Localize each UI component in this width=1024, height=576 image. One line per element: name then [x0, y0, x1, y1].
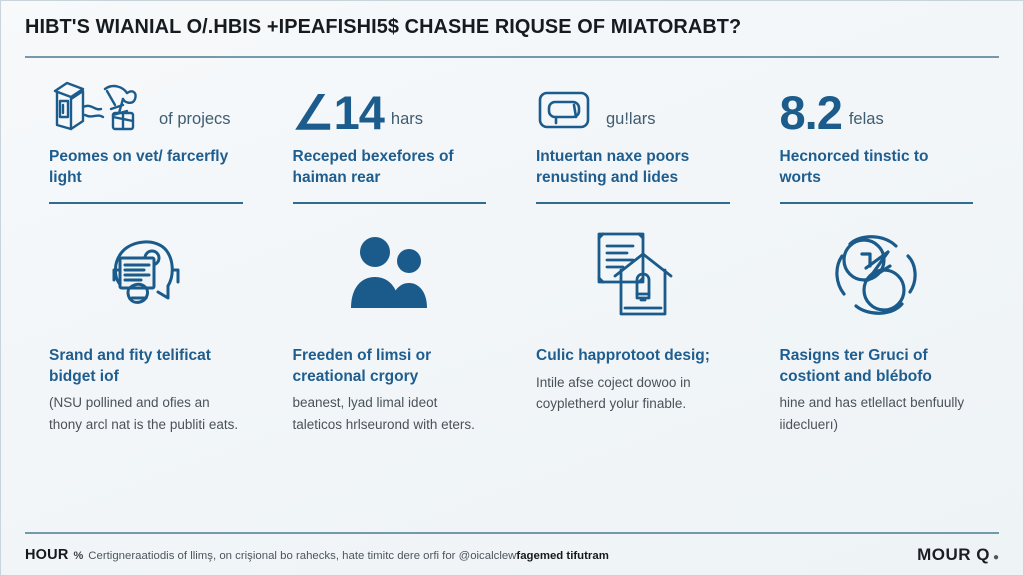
- rounded-screen-icon: [536, 87, 592, 136]
- stat-divider: [49, 202, 243, 204]
- stats-row: of projecs Peomes on vet/ farcerfly ligh…: [19, 58, 1005, 204]
- feature-card-title: Freeden of limsi or creational crgory: [293, 346, 487, 387]
- stat-item: 8.2 felas Hecnorced tinstic to worts: [756, 80, 1000, 204]
- stat-label: Peomes on vet/ farcerfly light: [49, 147, 243, 188]
- footer-divider: [25, 532, 999, 534]
- feature-card-title: Srand and fity telificat bidget iof: [49, 346, 243, 387]
- stat-item: ∠14 hars Receped bexefores of haiman rea…: [269, 80, 513, 204]
- footer-note: Certigneraatiodis of llimş, on crişional…: [88, 550, 609, 562]
- poster-footer: HOUR % Certigneraatiodis of llimş, on cr…: [19, 532, 1005, 575]
- feature-card-body: Intile afse coject dowoo in coypletherd …: [536, 372, 730, 415]
- stat-label: Intuertan naxe poors renusting and lides: [536, 147, 730, 188]
- stat-value-line: of projecs: [49, 80, 243, 136]
- stat-divider: [780, 202, 974, 204]
- stat-unit: of projecs: [159, 110, 231, 136]
- feature-card: Freeden of limsi or creational crgory be…: [269, 220, 513, 532]
- feature-card-body: hine and has etlellact benfuully iideclu…: [780, 392, 974, 435]
- stat-divider: [293, 202, 487, 204]
- footer-note-bold: fagemed tifutram: [516, 550, 608, 562]
- feature-card: Srand and fity telificat bidget iof (NЅU…: [25, 220, 269, 532]
- footer-left-group: HOUR % Certigneraatiodis of llimş, on cr…: [25, 547, 609, 563]
- stat-item: gu!lars Intuertan naxe poors renusting a…: [512, 80, 756, 204]
- footer-brand: HOUR: [25, 547, 69, 563]
- header-divider: [25, 56, 999, 58]
- person-with-document-icon: [49, 220, 243, 332]
- stat-value-line: 8.2 felas: [780, 80, 974, 136]
- infographic-poster: HIBT'S WIANIAL O/.HBIS +IPEAFISHI5$ CHAS…: [0, 0, 1024, 576]
- footer-note-text: Certigneraatiodis of llimş, on crişional…: [88, 550, 516, 562]
- stat-unit: gu!lars: [606, 110, 656, 136]
- feature-card-body: (NЅU pollined and ofies an thony arcl na…: [49, 392, 243, 435]
- stat-value-line: ∠14 hars: [293, 80, 487, 136]
- two-people-icon: [293, 220, 487, 332]
- stat-divider: [536, 202, 730, 204]
- feature-card-title: Culic happrotoot desig;: [536, 346, 730, 366]
- stat-value: ∠14: [293, 90, 384, 136]
- stat-value-line: gu!lars: [536, 80, 730, 136]
- footer-logo-text: MOUR Q: [917, 545, 990, 565]
- feature-card: Culic happrotoot desig; Intile afse coje…: [512, 220, 756, 532]
- stat-label: Hecnorced tinstic to worts: [780, 147, 974, 188]
- stat-unit: felas: [849, 110, 884, 136]
- cycle-arrows-icon: [780, 220, 974, 332]
- stat-item: of projecs Peomes on vet/ farcerfly ligh…: [25, 80, 269, 204]
- document-with-house-icon: [536, 220, 730, 332]
- feature-cards-row: Srand and fity telificat bidget iof (NЅU…: [19, 204, 1005, 532]
- footer-content: HOUR % Certigneraatiodis of llimş, on cr…: [25, 545, 999, 565]
- abstract-machine-icon: [49, 79, 145, 136]
- footer-logo-dot: ●: [993, 552, 999, 565]
- poster-header: HIBT'S WIANIAL O/.HBIS +IPEAFISHI5$ CHAS…: [19, 1, 1005, 58]
- footer-brand-mark: %: [74, 550, 84, 562]
- footer-logo: MOUR Q ●: [917, 545, 999, 565]
- feature-card-title: Rasigns ter Gruci of costiont and blébof…: [780, 346, 974, 387]
- stat-value: 8.2: [780, 90, 842, 136]
- stat-label: Receped bexefores of haiman rear: [293, 147, 487, 188]
- stat-unit: hars: [391, 110, 423, 136]
- feature-card: Rasigns ter Gruci of costiont and blébof…: [756, 220, 1000, 532]
- page-title: HIBT'S WIANIAL O/.HBIS +IPEAFISHI5$ CHAS…: [25, 15, 970, 39]
- feature-card-body: beanest, lyad limal ideot taleticos hrls…: [293, 392, 487, 435]
